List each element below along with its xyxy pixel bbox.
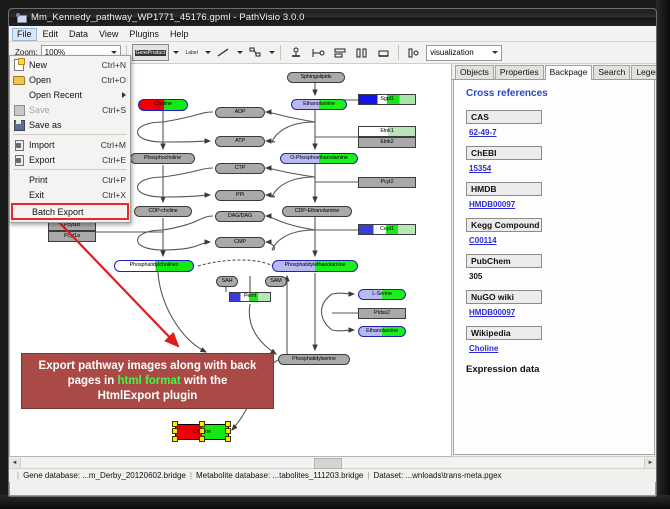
scroll-left-icon[interactable]: ◄ — [9, 458, 21, 468]
file-menu-item-shortcut: Ctrl+O — [101, 75, 126, 85]
scroll-thumb[interactable] — [314, 458, 342, 469]
metabolite-database-label: Metabolite database: — [196, 471, 270, 480]
save-as-icon — [12, 119, 25, 130]
line-dropdown-icon[interactable] — [237, 51, 243, 54]
metabolite-database-value: ...tabolites_111203.bridge — [272, 471, 363, 480]
file-menu-item-label: Print — [29, 175, 102, 185]
datanode-dropdown-icon[interactable] — [173, 51, 179, 54]
right-panel: Objects Properties Backpage Search Legen… — [452, 64, 656, 456]
cross-references-title: Cross references — [466, 88, 654, 99]
file-menu-item-batch-export[interactable]: Batch Export — [11, 203, 129, 220]
toolbar-separator-2 — [280, 45, 281, 60]
file-menu-item-shortcut: Ctrl+M — [101, 140, 126, 150]
status-sep-2: | — [367, 471, 369, 480]
menu-view[interactable]: View — [94, 28, 123, 41]
file-menu-item-print[interactable]: PrintCtrl+P — [10, 172, 130, 187]
toolbar-separator-3 — [398, 45, 399, 60]
xref-value-nugo-wiki[interactable]: HMDB00097 — [469, 308, 515, 317]
menu-item-spacer-icon — [12, 89, 25, 100]
state-icon[interactable] — [308, 44, 327, 61]
xref-value-chebi[interactable]: 15354 — [469, 164, 491, 173]
interaction-tool-button[interactable] — [246, 44, 265, 61]
file-menu-item-label: Save — [29, 105, 102, 115]
xref-db-wikipedia: Wikipedia — [466, 326, 542, 340]
scroll-right-icon[interactable]: ► — [644, 458, 656, 468]
window-bottom-shadow — [0, 495, 670, 509]
gene-database-value: ...m_Derby_20120602.bridge — [82, 471, 186, 480]
menu-item-spacer-icon — [12, 189, 25, 200]
file-menu-item-open-recent[interactable]: Open Recent — [10, 87, 130, 102]
title-bar: Mm_Kennedy_pathway_WP1771_45176.gpml - P… — [9, 9, 656, 26]
menu-item-spacer-icon — [15, 206, 28, 217]
xref-db-nugo-wiki: NuGO wiki — [466, 290, 542, 304]
file-menu-item-label: Export — [29, 155, 102, 165]
chevron-down-icon — [111, 51, 117, 54]
status-sep-1: | — [190, 471, 192, 480]
menu-separator — [13, 134, 127, 135]
xref-value-cas[interactable]: 62-49-7 — [469, 128, 497, 137]
file-menu-item-shortcut: Ctrl+X — [102, 190, 126, 200]
pathvisio-window: Mm_Kennedy_pathway_WP1771_45176.gpml - P… — [8, 8, 657, 497]
file-menu-item-import[interactable]: ImportCtrl+M — [10, 137, 130, 152]
line-tool-button[interactable] — [214, 44, 233, 61]
scroll-track[interactable] — [21, 458, 644, 467]
file-menu-item-label: Exit — [29, 190, 102, 200]
label-dropdown-icon[interactable] — [205, 51, 211, 54]
status-bar: | Gene database: ...m_Derby_20120602.bri… — [9, 468, 656, 482]
chevron-down-icon-2 — [492, 51, 498, 54]
horizontal-scrollbar[interactable]: ◄ ► — [9, 456, 656, 468]
file-menu-item-shortcut: Ctrl+N — [102, 60, 126, 70]
backpage-content: Cross references CAS62-49-7ChEBI15354HMD… — [453, 80, 655, 455]
align-icon[interactable] — [330, 44, 349, 61]
file-menu-item-label: Save as — [29, 120, 126, 130]
visualization-settings-icon[interactable] — [404, 44, 423, 61]
xref-value-kegg-compound[interactable]: C00114 — [469, 236, 497, 245]
xref-db-chebi: ChEBI — [466, 146, 542, 160]
file-menu-item-new[interactable]: NewCtrl+N — [10, 57, 130, 72]
xref-value-wikipedia[interactable]: Choline — [469, 344, 498, 353]
pathvisio-icon — [16, 13, 26, 23]
file-menu-item-open[interactable]: OpenCtrl+O — [10, 72, 130, 87]
menu-item-spacer-icon — [12, 174, 25, 185]
save-icon — [12, 104, 25, 115]
tab-objects[interactable]: Objects — [455, 65, 494, 79]
file-menu-item-label: Batch Export — [32, 207, 123, 217]
submenu-arrow-icon — [122, 92, 126, 98]
file-menu-item-save[interactable]: SaveCtrl+S — [10, 102, 130, 117]
xref-db-cas: CAS — [466, 110, 542, 124]
file-menu-item-shortcut: Ctrl+E — [102, 155, 126, 165]
file-menu-item-save-as[interactable]: Save as — [10, 117, 130, 132]
visualization-value: visualization — [430, 48, 474, 57]
file-dropdown-menu[interactable]: NewCtrl+NOpenCtrl+OOpen RecentSaveCtrl+S… — [9, 55, 131, 223]
panel-tabs: Objects Properties Backpage Search Legen… — [452, 64, 656, 80]
file-menu-item-label: New — [29, 60, 102, 70]
cross-reference-list: CAS62-49-7ChEBI15354HMDBHMDB00097Kegg Co… — [464, 110, 654, 362]
file-menu-item-label: Import — [29, 140, 101, 150]
screen: Mm_Kennedy_pathway_WP1771_45176.gpml - P… — [0, 0, 670, 509]
interaction-icon — [249, 47, 262, 58]
label-tool-button[interactable]: Label — [182, 44, 201, 61]
menu-file[interactable]: File — [12, 28, 37, 41]
open-folder-icon — [12, 74, 25, 85]
datanode-icon: GeneProduct — [135, 50, 166, 56]
window-right-shadow — [656, 0, 670, 509]
file-menu-item-export[interactable]: ExportCtrl+E — [10, 152, 130, 167]
menu-plugins[interactable]: Plugins — [124, 28, 164, 41]
menu-edit[interactable]: Edit — [38, 28, 64, 41]
file-menu-item-shortcut: Ctrl+S — [102, 105, 126, 115]
xref-db-hmdb: HMDB — [466, 182, 542, 196]
label-tool-label: Label — [186, 50, 198, 56]
interaction-dropdown-icon[interactable] — [269, 51, 275, 54]
dataset-value: ...wnloads\trans-meta.pgex — [405, 471, 501, 480]
file-menu-item-exit[interactable]: ExitCtrl+X — [10, 187, 130, 202]
xref-db-kegg-compound: Kegg Compound — [466, 218, 542, 232]
datanode-tool-button[interactable]: GeneProduct — [132, 44, 169, 61]
file-menu-item-label: Open Recent — [29, 90, 122, 100]
import-icon — [12, 139, 25, 150]
tab-properties[interactable]: Properties — [495, 65, 544, 79]
stack-icon[interactable] — [374, 44, 393, 61]
new-document-icon — [12, 59, 25, 70]
distribute-icon[interactable] — [352, 44, 371, 61]
line-icon — [217, 47, 230, 58]
tab-backpage[interactable]: Backpage — [545, 65, 593, 80]
tab-search[interactable]: Search — [593, 65, 630, 79]
expression-data-title: Expression data — [466, 364, 654, 375]
menu-help[interactable]: Help — [165, 28, 194, 41]
xref-value-pubchem: 305 — [469, 272, 482, 281]
xref-db-pubchem: PubChem — [466, 254, 542, 268]
menu-data[interactable]: Data — [64, 28, 93, 41]
file-menu-item-shortcut: Ctrl+P — [102, 175, 126, 185]
xref-value-hmdb[interactable]: HMDB00097 — [469, 200, 515, 209]
menu-separator — [13, 169, 127, 170]
export-icon — [12, 154, 25, 165]
anchor-icon[interactable] — [286, 44, 305, 61]
dataset-label: Dataset: — [373, 471, 403, 480]
status-sep-0: | — [17, 471, 19, 480]
menu-bar: File Edit Data View Plugins Help — [9, 26, 656, 42]
gene-database-label: Gene database: — [23, 471, 80, 480]
file-menu-item-label: Open — [29, 75, 101, 85]
window-title: Mm_Kennedy_pathway_WP1771_45176.gpml - P… — [31, 12, 305, 23]
tab-legend[interactable]: Legend — [631, 65, 657, 79]
visualization-combo[interactable]: visualization — [426, 45, 502, 61]
